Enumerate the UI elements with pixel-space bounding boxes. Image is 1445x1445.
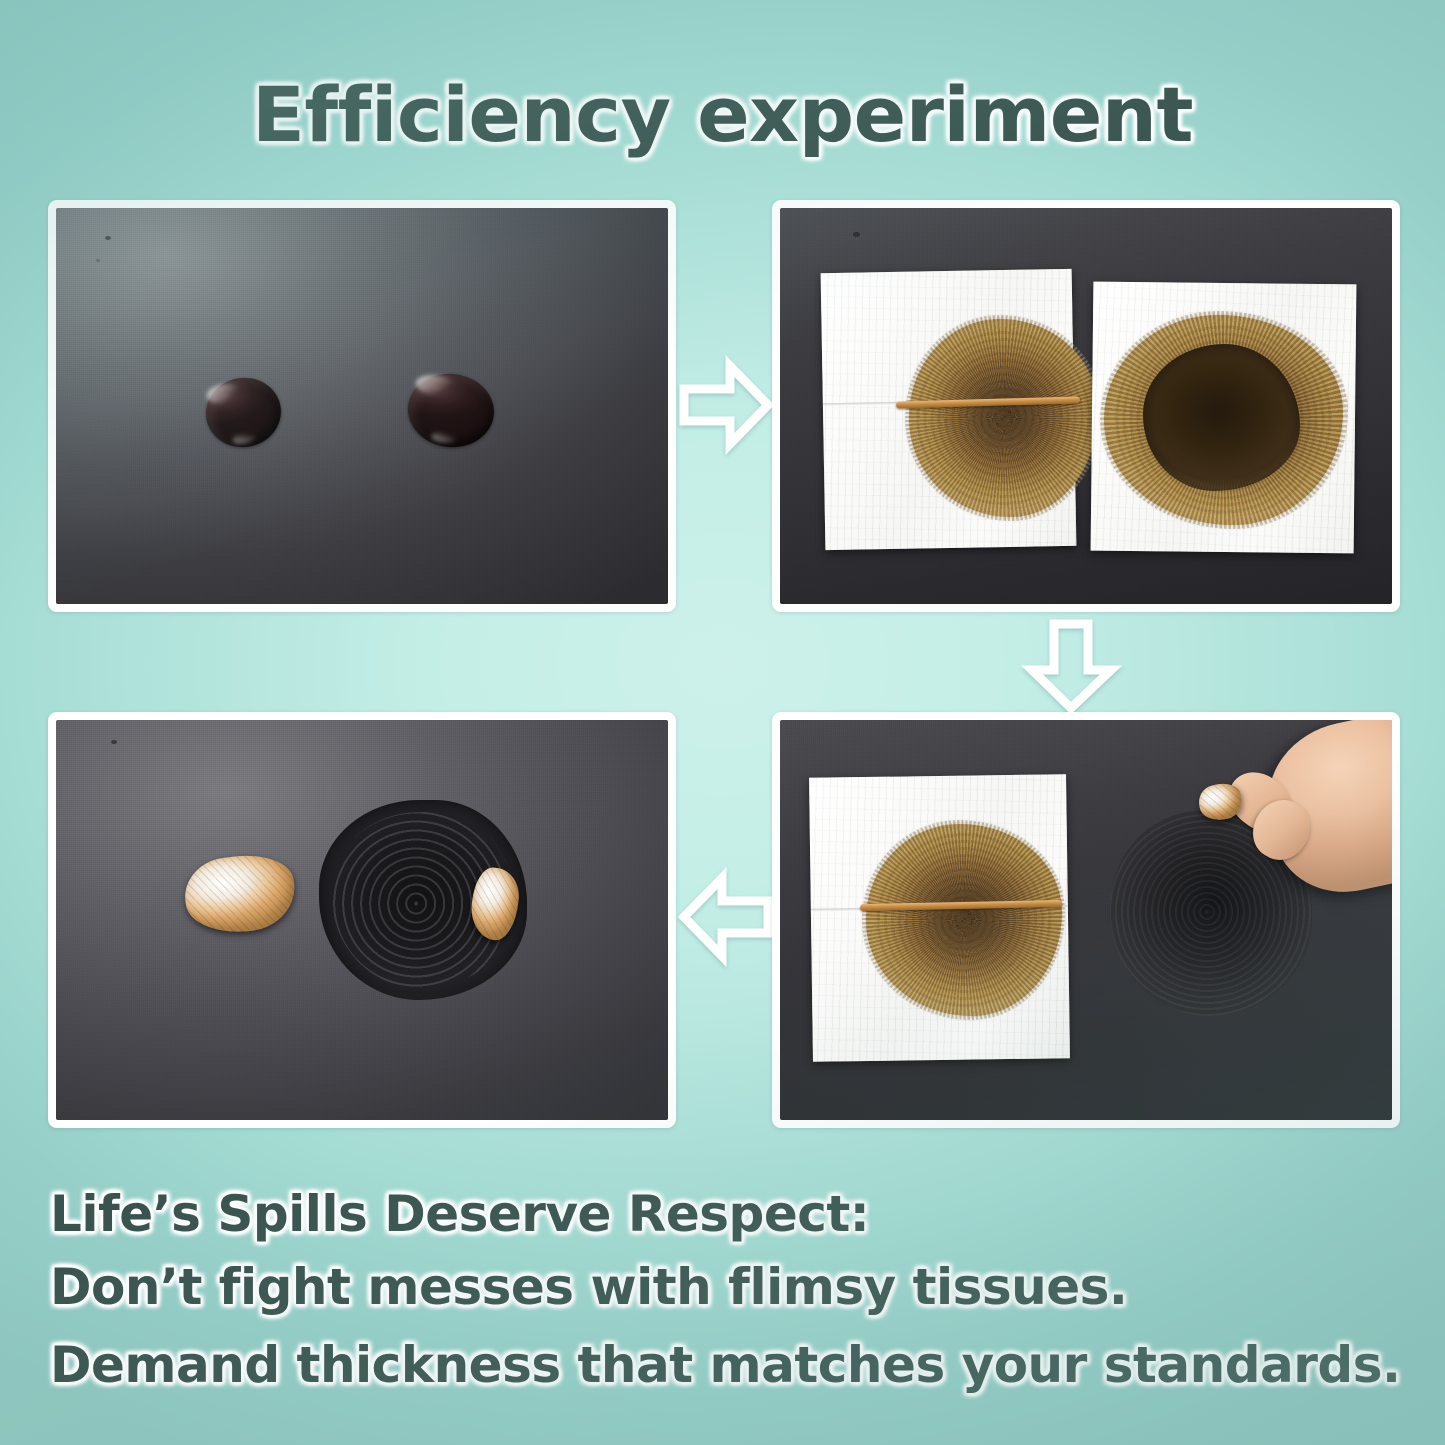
absorbed-stain-right	[1104, 315, 1343, 525]
arrow-right-icon	[678, 356, 774, 454]
photo-panel-step-3	[772, 712, 1400, 1128]
footer-line-1: Life’s Spills Deserve Respect:	[50, 1185, 869, 1243]
photo-image-step-3	[780, 720, 1392, 1120]
arrow-down-icon	[1022, 618, 1120, 714]
photo-image-step-4	[56, 720, 668, 1120]
footer-line-2: Don’t fight messes with flimsy tissues.	[50, 1258, 1127, 1316]
photo-panel-step-2	[772, 200, 1400, 612]
absorbed-stain-left	[866, 824, 1062, 1016]
stain-rings	[916, 327, 1091, 509]
page-title: Efficiency experiment	[0, 72, 1445, 158]
surface-speck	[105, 236, 111, 240]
absorbed-stain-left	[909, 319, 1099, 517]
photo-image-step-2	[780, 208, 1392, 604]
photo-image-step-1	[56, 208, 668, 604]
infographic-canvas: Efficiency experiment	[0, 0, 1445, 1445]
photo-panel-step-1	[48, 200, 676, 612]
photo-panel-step-4	[48, 712, 676, 1128]
surface-texture	[56, 208, 668, 604]
footer-line-3: Demand thickness that matches your stand…	[50, 1336, 1400, 1394]
arrow-left-icon	[678, 868, 774, 966]
